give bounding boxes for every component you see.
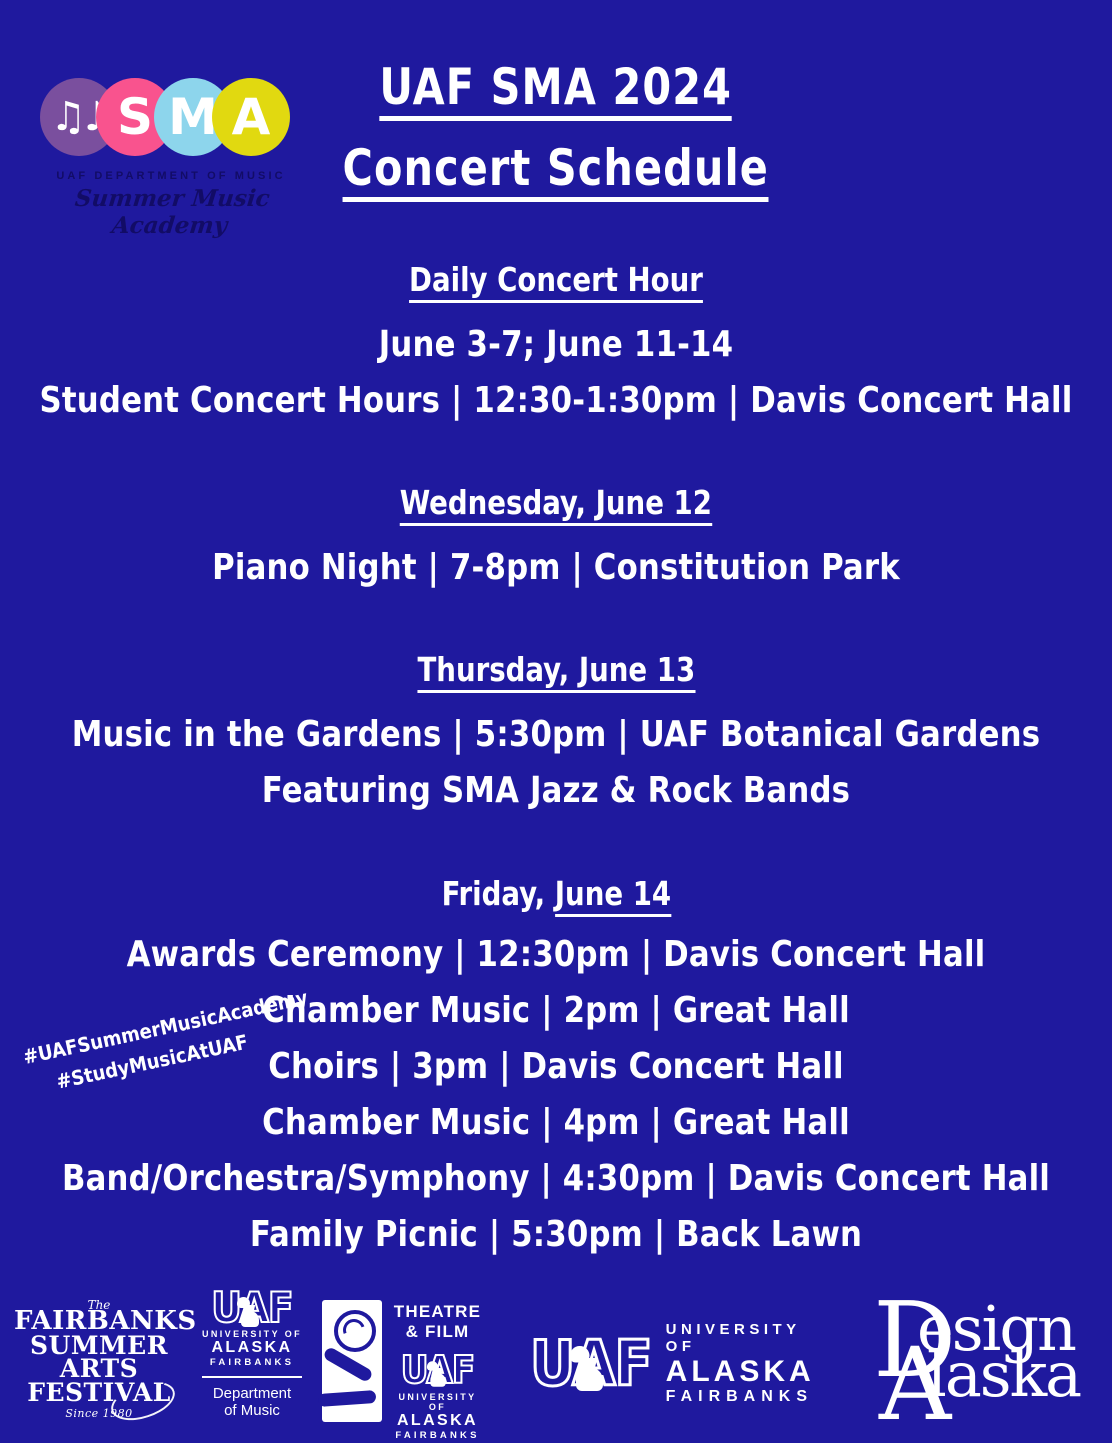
university-of-alaska-fairbanks-logo: UAF UNIVERSITY OF ALASKA FAIRBANKS bbox=[530, 1321, 830, 1406]
fsaf-word-arts: ARTS bbox=[14, 1357, 184, 1381]
poster-title: UAF SMA 2024 Concert Schedule bbox=[0, 62, 1112, 202]
schedule-section-thursday: Thursday, June 13 Music in the Gardens |… bbox=[0, 652, 1112, 819]
design-alaska-logo: D esign A laska bbox=[873, 1296, 1098, 1416]
dept-label-line-1: Department bbox=[198, 1385, 306, 1403]
theatre-label: THEATRE bbox=[388, 1302, 487, 1322]
section-heading: Daily Concert Hour bbox=[409, 262, 703, 303]
polar-bear-icon bbox=[427, 1361, 449, 1387]
schedule-line: Band/Orchestra/Symphony | 4:30pm | Davis… bbox=[28, 1151, 1084, 1207]
uaf-department-of-music-logo: UAF UNIVERSITY OF ALASKA FAIRBANKS Depar… bbox=[198, 1287, 306, 1420]
uaf-letters-wrap: UAF bbox=[401, 1351, 474, 1389]
uaf-sub-fairbanks: FAIRBANKS bbox=[666, 1388, 830, 1406]
uaf-sub-alaska: ALASKA bbox=[666, 1355, 830, 1388]
footer-logo-bar: The FAIRBANKS SUMMER ARTS FESTIVAL Since… bbox=[0, 1274, 1112, 1434]
section-heading: Friday, June 14 bbox=[441, 876, 670, 913]
schedule-line: June 3-7; June 11-14 bbox=[28, 317, 1084, 373]
schedule-line: Awards Ceremony | 12:30pm | Davis Concer… bbox=[28, 927, 1084, 983]
stylized-two-icon bbox=[314, 1358, 380, 1418]
schedule-line: Music in the Gardens | 5:30pm | UAF Bota… bbox=[28, 707, 1084, 763]
title-line-2: Concert Schedule bbox=[343, 143, 769, 202]
uaf-sub-fairbanks: FAIRBANKS bbox=[388, 1430, 487, 1441]
concert-schedule: Daily Concert Hour June 3-7; June 11-14 … bbox=[0, 262, 1112, 1264]
schedule-line: Chamber Music | 4pm | Great Hall bbox=[28, 1095, 1084, 1151]
section-heading-plain: Friday, bbox=[441, 874, 554, 913]
uaf-subtext: UNIVERSITY OF ALASKA FAIRBANKS bbox=[388, 1392, 487, 1441]
uaf-subtext: UNIVERSITY OF ALASKA FAIRBANKS bbox=[666, 1321, 830, 1406]
polar-bear-icon bbox=[570, 1346, 609, 1391]
uaf-sub-fairbanks: FAIRBANKS bbox=[198, 1357, 306, 1368]
polar-bear-icon bbox=[237, 1297, 263, 1327]
uaf-sub-university-of: UNIVERSITY OF bbox=[666, 1321, 830, 1355]
uaf-theatre-and-film-logo: THEATRE & FILM UAF UNIVERSITY OF ALASKA … bbox=[322, 1294, 487, 1424]
theatre-film-block bbox=[322, 1300, 382, 1422]
section-heading-underlined: June 14 bbox=[554, 874, 670, 917]
uaf-wordmark: UAF bbox=[211, 1287, 292, 1329]
section-heading: Thursday, June 13 bbox=[417, 652, 695, 693]
dept-label-line-2: of Music bbox=[198, 1402, 306, 1420]
theatre-film-text: THEATRE & FILM UAF UNIVERSITY OF ALASKA … bbox=[388, 1302, 487, 1441]
schedule-section-daily: Daily Concert Hour June 3-7; June 11-14 … bbox=[0, 262, 1112, 429]
fsaf-word-fairbanks: FAIRBANKS bbox=[14, 1309, 184, 1333]
fairbanks-summer-arts-festival-logo: The FAIRBANKS SUMMER ARTS FESTIVAL Since… bbox=[14, 1299, 184, 1420]
schedule-line: Featuring SMA Jazz & Rock Bands bbox=[28, 763, 1084, 819]
logo-divider bbox=[202, 1376, 302, 1378]
uaf-wordmark: UAF bbox=[530, 1333, 652, 1395]
schedule-section-wednesday: Wednesday, June 12 Piano Night | 7-8pm |… bbox=[0, 485, 1112, 596]
uaf-sub-alaska: ALASKA bbox=[388, 1412, 487, 1430]
uaf-wordmark: UAF UNIVERSITY OF ALASKA FAIRBANKS bbox=[388, 1351, 487, 1441]
schedule-line: Piano Night | 7-8pm | Constitution Park bbox=[28, 540, 1084, 596]
design-alaska-alaska-text: laska bbox=[927, 1348, 1080, 1401]
schedule-line: Family Picnic | 5:30pm | Back Lawn bbox=[28, 1207, 1084, 1263]
camera-aperture-icon bbox=[334, 1310, 376, 1352]
poster-canvas: ♫♪ S M A UAF DEPARTMENT OF MUSIC Summer … bbox=[0, 0, 1112, 1440]
film-label: & FILM bbox=[388, 1322, 487, 1342]
schedule-line: Student Concert Hours | 12:30-1:30pm | D… bbox=[28, 373, 1084, 429]
uaf-sub-university-of: UNIVERSITY OF bbox=[388, 1392, 487, 1412]
uaf-sub-alaska: ALASKA bbox=[198, 1339, 306, 1357]
title-line-1: UAF SMA 2024 bbox=[380, 62, 733, 121]
section-heading: Wednesday, June 12 bbox=[400, 485, 712, 526]
uaf-subtext: UNIVERSITY OF ALASKA FAIRBANKS bbox=[198, 1329, 306, 1368]
